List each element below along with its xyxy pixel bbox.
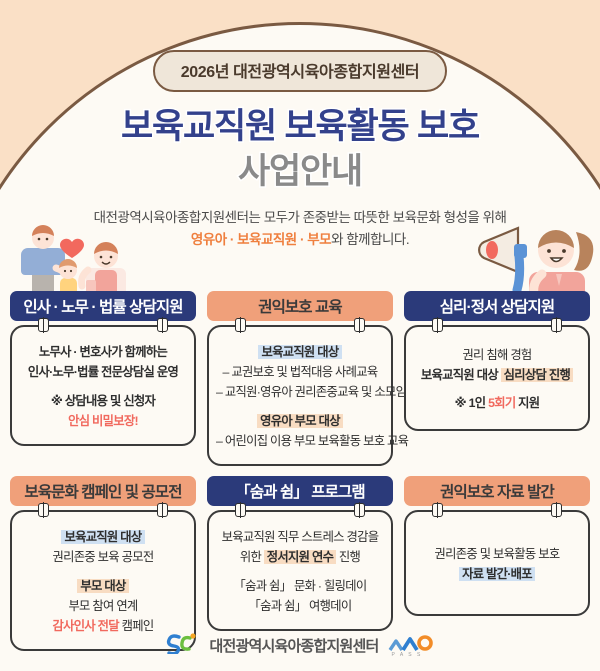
binder-clip-icon [432,318,443,332]
sc-logo-icon [166,632,200,659]
binder-clip-icon [157,318,168,332]
card-line: 권리존중 및 보육활동 보호 [413,545,581,565]
card-line: 부모 참여 연계 [19,597,187,617]
highlight-text: 심리상담 진행 [501,368,573,382]
highlight-text: 영유아 부모 대상 [257,414,343,428]
card-psychological-emotional-consult[interactable]: 심리·정서 상담지원권리 침해 경험보육교직원 대상 심리상담 진행※ 1인 5… [404,291,590,466]
binder-clips [404,503,590,517]
lead-highlight: 영유아 · 보육교직원 · 부모 [191,232,331,247]
card-line: 「숨과 쉼」 문화 · 힐링데이 [216,577,384,597]
spacer [19,383,187,392]
binder-clip-icon [235,503,246,517]
binder-clips [10,503,196,517]
card-body-consult-hr-labor-law: 노무사 · 변호사가 함께하는인사·노무·법률 전문상담실 운영※ 상담내용 및… [10,325,196,446]
card-rights-protection-education[interactable]: 권익보호 교육보육교직원 대상– 교권보호 및 법적대응 사례교육– 교직원·영… [207,291,393,466]
page-title-line2: 사업안내 [0,151,600,192]
highlight-text: 보육교직원 대상 [61,530,144,544]
card-line: 보육교직원 직무 스트레스 경감을 [216,528,384,548]
card-line: 보육교직원 대상 [19,528,187,548]
card-body-breath-and-rest-program: 보육교직원 직무 스트레스 경감을위한 정서지원 연수 진행「숨과 쉼」 문화 … [207,510,393,631]
binder-clip-icon [38,503,49,517]
binder-clip-icon [551,503,562,517]
card-line: 「숨과 쉼」 여행데이 [216,597,384,617]
spacer [216,403,384,412]
card-line: – 어린이집 이용 부모 보육활동 보호 교육 [216,432,384,452]
card-line: ※ 1인 5회기 지원 [413,394,581,414]
badge-container: 2026년 대전광역시육아종합지원센터 [0,0,600,92]
card-row-2: 보육문화 캠페인 및 공모전보육교직원 대상권리존중 보육 공모전부모 대상부모… [0,476,600,651]
footer: 대전광역시육아종합지원센터 P A S S [0,632,600,659]
card-row-1: 인사 · 노무 · 법률 상담지원노무사 · 변호사가 함께하는인사·노무·법률… [0,291,600,466]
card-body-rights-protection-materials: 권리존중 및 보육활동 보호자료 발간·배포 [404,510,590,616]
card-line: – 교직원·영유아 권리존중교육 및 소모임 [216,383,384,403]
highlight-text: 보육교직원 대상 [258,345,341,359]
card-line: 영유아 부모 대상 [216,412,384,432]
card-line: 위한 정서지원 연수 진행 [216,548,384,568]
spacer [413,385,581,394]
card-header-consult-hr-labor-law: 인사 · 노무 · 법률 상담지원 [10,291,196,321]
binder-clip-icon [354,318,365,332]
card-childcare-culture-campaign[interactable]: 보육문화 캠페인 및 공모전보육교직원 대상권리존중 보육 공모전부모 대상부모… [10,476,196,651]
card-consult-hr-labor-law[interactable]: 인사 · 노무 · 법률 상담지원노무사 · 변호사가 함께하는인사·노무·법률… [10,291,196,466]
card-body-childcare-culture-campaign: 보육교직원 대상권리존중 보육 공모전부모 대상부모 참여 연계감사인사 전달 … [10,510,196,651]
highlight-text: 부모 대상 [77,579,128,593]
lead-line-1: 대전광역시육아종합지원센터는 모두가 존중받는 따뜻한 보육문화 형성을 위해 [0,207,600,229]
binder-clip-icon [38,318,49,332]
binder-clip-icon [235,318,246,332]
pass-logo-icon: P A S S [388,635,434,657]
spacer [216,568,384,577]
binder-clip-icon [354,503,365,517]
lead-line-2: 영유아 · 보육교직원 · 부모와 함께합니다. [0,229,600,251]
card-line: 보육교직원 대상 [216,343,384,363]
card-line: – 교권보호 및 법적대응 사례교육 [216,363,384,383]
card-line: 권리존중 보육 공모전 [19,548,187,568]
lead-line-2-rest: 와 함께합니다. [331,232,409,247]
card-header-breath-and-rest-program: 「숨과 쉼」 프로그램 [207,476,393,506]
highlight-text: 5회기 [488,396,515,410]
card-line: 안심 비밀보장! [19,412,187,432]
card-header-rights-protection-education: 권익보호 교육 [207,291,393,321]
highlight-text: 자료 발간·배포 [459,567,535,581]
card-line: 권리 침해 경험 [413,346,581,366]
card-header-childcare-culture-campaign: 보육문화 캠페인 및 공모전 [10,476,196,506]
binder-clip-icon [551,318,562,332]
binder-clips [207,503,393,517]
card-line: 노무사 · 변호사가 함께하는 [19,343,187,363]
card-body-rights-protection-education: 보육교직원 대상– 교권보호 및 법적대응 사례교육– 교직원·영유아 권리존중… [207,325,393,466]
card-header-psychological-emotional-consult: 심리·정서 상담지원 [404,291,590,321]
footer-org-name: 대전광역시육아종합지원센터 [209,635,378,656]
binder-clip-icon [432,503,443,517]
highlight-text: 정서지원 연수 [264,550,336,564]
poster-root: 2026년 대전광역시육아종합지원센터 보육교직원 보육활동 보호 사업안내 대… [0,0,600,671]
highlight-text: 감사인사 전달 [53,619,119,633]
card-body-psychological-emotional-consult: 권리 침해 경험보육교직원 대상 심리상담 진행※ 1인 5회기 지원 [404,325,590,431]
card-line: 보육교직원 대상 심리상담 진행 [413,366,581,386]
card-line: ※ 상담내용 및 신청자 [19,392,187,412]
binder-clips [10,318,196,332]
pass-label: P A S S [392,652,423,658]
page-title-line1: 보육교직원 보육활동 보호 [0,106,600,147]
binder-clips [404,318,590,332]
binder-clip-icon [157,503,168,517]
card-line: 부모 대상 [19,577,187,597]
card-line: 인사·노무·법률 전문상담실 운영 [19,363,187,383]
card-breath-and-rest-program[interactable]: 「숨과 쉼」 프로그램보육교직원 직무 스트레스 경감을위한 정서지원 연수 진… [207,476,393,651]
card-rights-protection-materials[interactable]: 권익보호 자료 발간권리존중 및 보육활동 보호자료 발간·배포 [404,476,590,651]
card-line: 자료 발간·배포 [413,565,581,585]
card-header-rights-protection-materials: 권익보호 자료 발간 [404,476,590,506]
year-badge: 2026년 대전광역시육아종합지원센터 [153,50,448,92]
binder-clips [207,318,393,332]
spacer [19,568,187,577]
lead-paragraph: 대전광역시육아종합지원센터는 모두가 존중받는 따뜻한 보육문화 형성을 위해 … [0,207,600,252]
